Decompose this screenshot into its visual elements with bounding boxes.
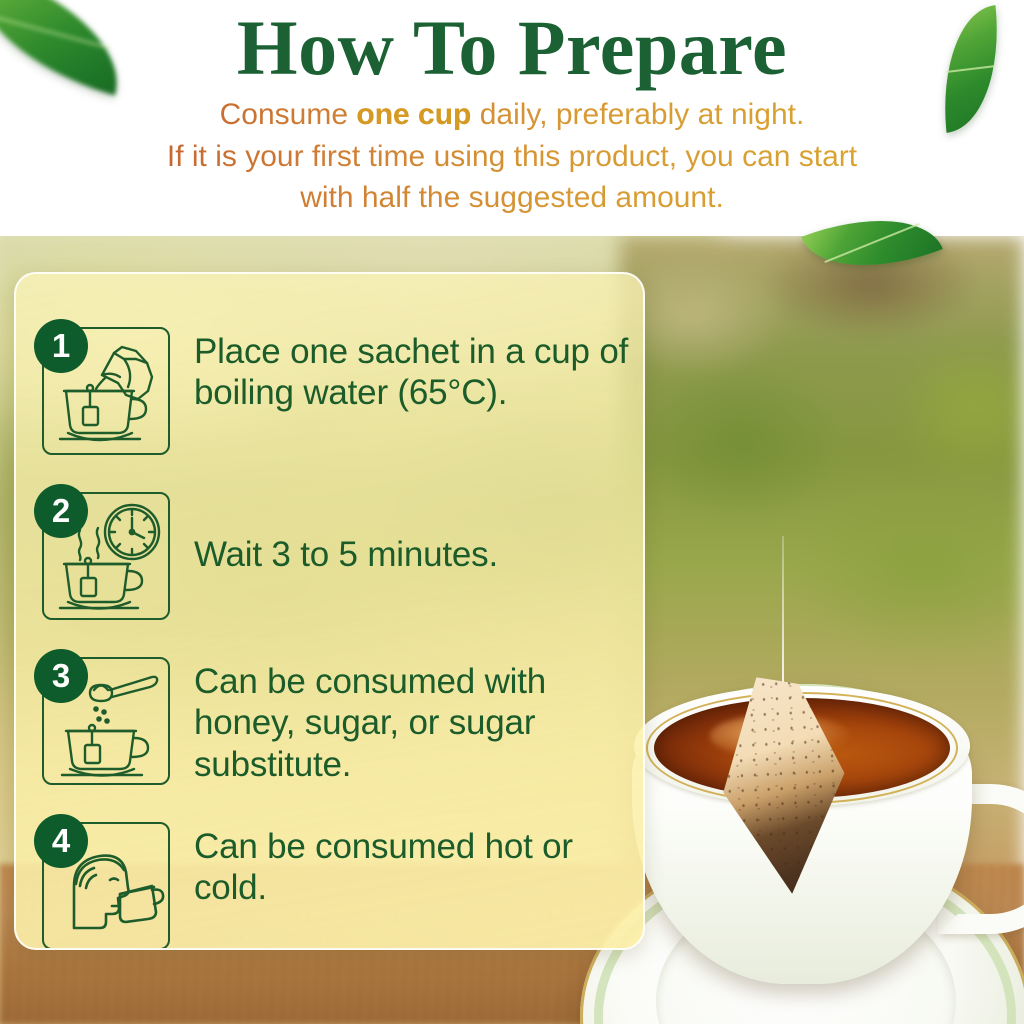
header: How To Prepare Consume one cup daily, pr… <box>0 0 1024 219</box>
instructions-panel: Place one sachet in a cup of boiling wat… <box>14 272 645 950</box>
step-4-number-badge: 4 <box>34 814 88 868</box>
step-2-number-badge: 2 <box>34 484 88 538</box>
step-item: Place one sachet in a cup of boiling wat… <box>42 327 632 455</box>
subtitle-line1-part-a: Consume <box>220 98 357 131</box>
step-1-text: Place one sachet in a cup of boiling wat… <box>194 327 630 414</box>
subtitle-line3: with half the suggested amount. <box>300 181 724 214</box>
subtitle-emphasis: one cup <box>356 98 471 131</box>
subtitle: Consume one cup daily, preferably at nig… <box>72 94 952 218</box>
step-3-text: Can be consumed with honey, sugar, or su… <box>194 657 630 785</box>
how-to-prepare-poster: How To Prepare Consume one cup daily, pr… <box>0 0 1024 1024</box>
step-3-number-badge: 3 <box>34 649 88 703</box>
teabag-string <box>782 536 784 684</box>
subtitle-line2: If it is your first time using this prod… <box>167 140 857 173</box>
step-2-text: Wait 3 to 5 minutes. <box>194 492 498 575</box>
subtitle-line1-part-c: daily, preferably at night. <box>471 98 804 131</box>
step-item: Wait 3 to 5 minutes. 2 <box>42 492 632 620</box>
step-4-text: Can be consumed hot or cold. <box>194 822 630 909</box>
step-item: Can be consumed hot or cold. 4 <box>42 822 632 950</box>
subtitle-line1: Consume one cup daily, preferably at nig… <box>220 98 805 131</box>
step-1-number-badge: 1 <box>34 319 88 373</box>
step-item: Can be consumed with honey, sugar, or su… <box>42 657 632 785</box>
page-title: How To Prepare <box>0 0 1024 86</box>
